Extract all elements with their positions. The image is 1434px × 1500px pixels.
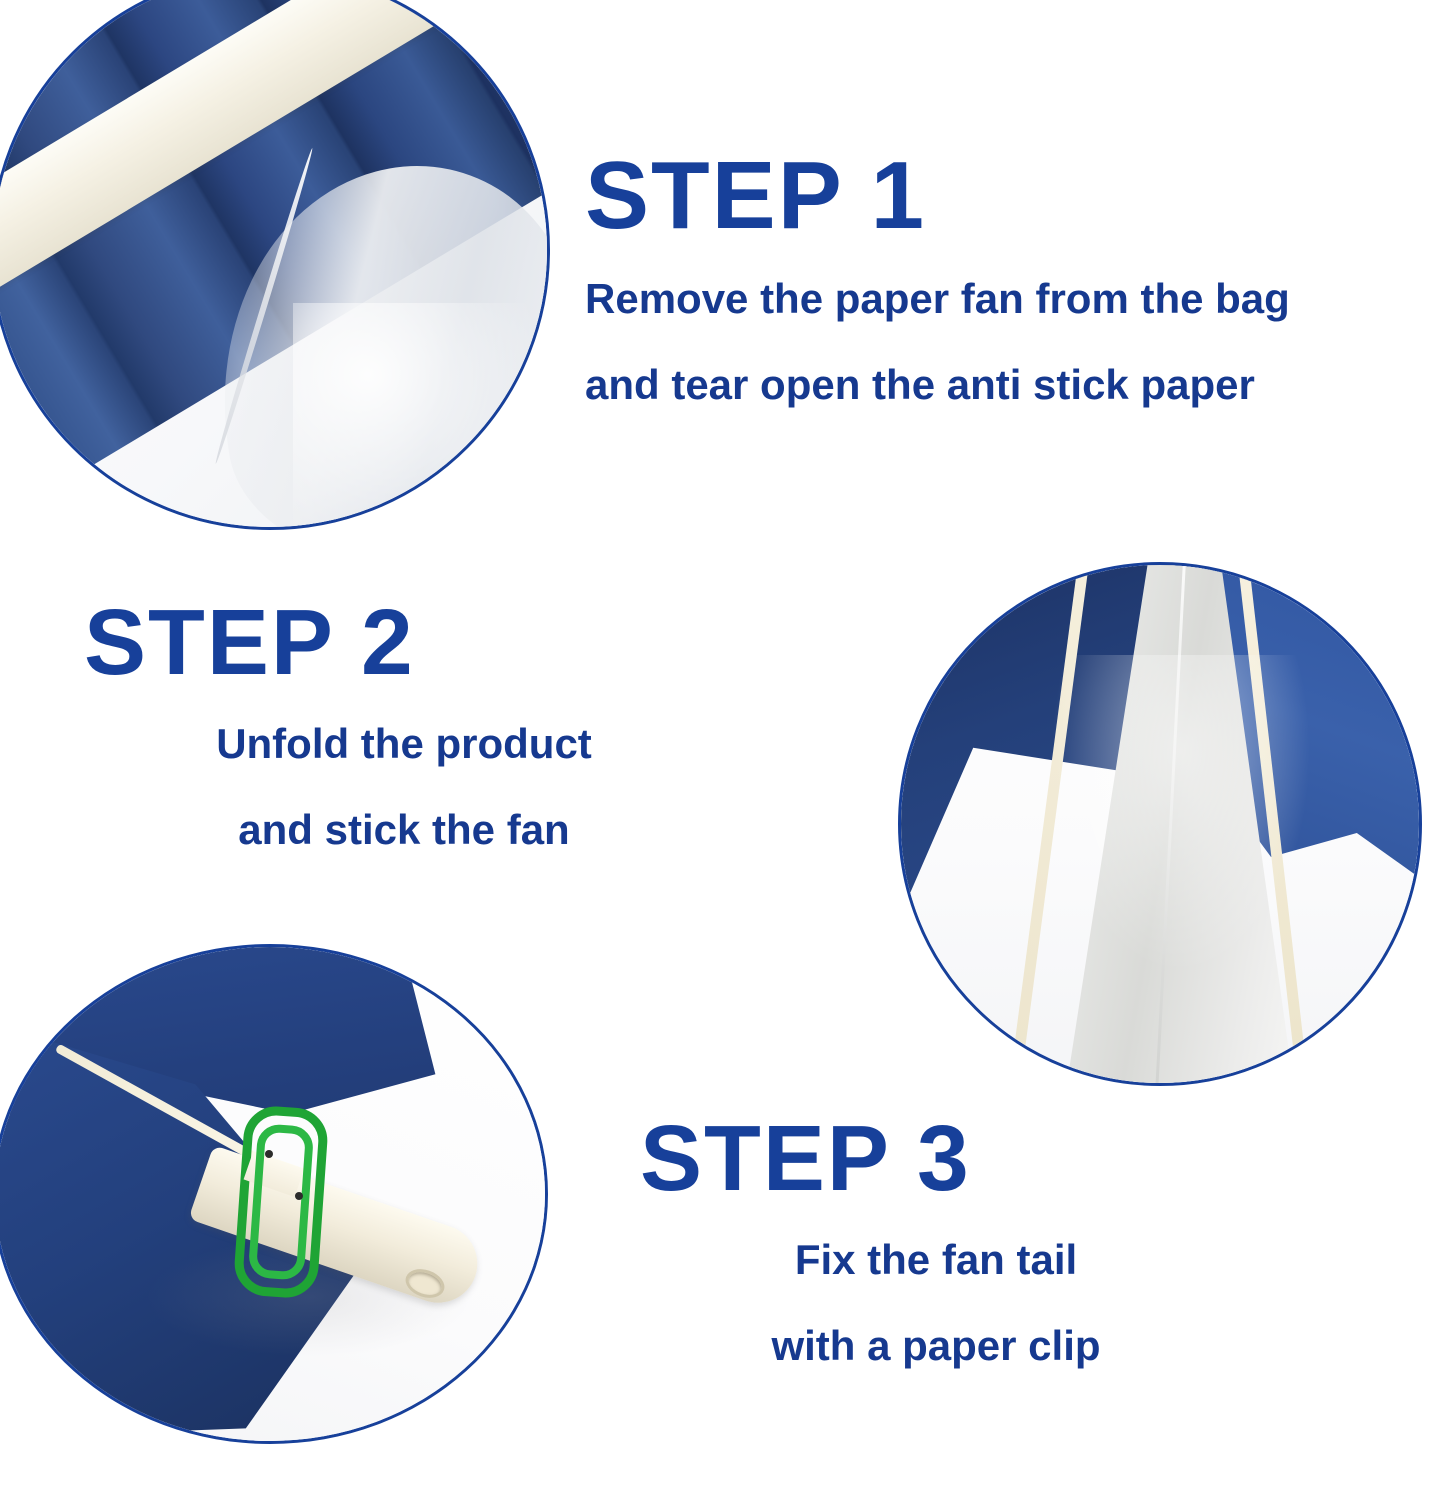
step-1-photo-content <box>0 0 547 527</box>
step-1-description: Remove the paper fan from the bag and te… <box>585 278 1290 406</box>
step-2-photo-content <box>901 565 1419 1083</box>
step-2-text-block: STEP 2 Unfold the product and stick the … <box>84 596 724 851</box>
step-2-line-2: and stick the fan <box>84 809 724 851</box>
step-3-line-2: with a paper clip <box>640 1325 1232 1367</box>
blade-highlight <box>1051 655 1311 975</box>
step-3-heading: STEP 3 <box>640 1112 1232 1205</box>
step-1-line-2: and tear open the anti stick paper <box>585 364 1290 406</box>
step-1-line-1: Remove the paper fan from the bag <box>585 278 1290 320</box>
step-2-description: Unfold the product and stick the fan <box>84 723 724 851</box>
step-1-heading: STEP 1 <box>585 148 1290 244</box>
instruction-infographic: STEP 1 Remove the paper fan from the bag… <box>0 0 1434 1500</box>
step-2-photo-circle <box>898 562 1422 1086</box>
film-sheen <box>293 303 543 527</box>
clip-contact-point-upper <box>265 1150 273 1158</box>
step-3-description: Fix the fan tail with a paper clip <box>640 1239 1232 1367</box>
clip-contact-point-lower <box>295 1192 303 1200</box>
step-1-photo-circle <box>0 0 550 530</box>
step-2-heading: STEP 2 <box>84 596 724 689</box>
step-3-line-1: Fix the fan tail <box>640 1239 1232 1281</box>
green-paper-clip-inner-loop <box>248 1123 315 1281</box>
step-3-photo-content <box>0 947 545 1441</box>
step-3-text-block: STEP 3 Fix the fan tail with a paper cli… <box>640 1112 1232 1367</box>
step-3-photo-circle <box>0 944 548 1444</box>
step-2-line-1: Unfold the product <box>84 723 724 765</box>
step-1-text-block: STEP 1 Remove the paper fan from the bag… <box>585 148 1290 406</box>
